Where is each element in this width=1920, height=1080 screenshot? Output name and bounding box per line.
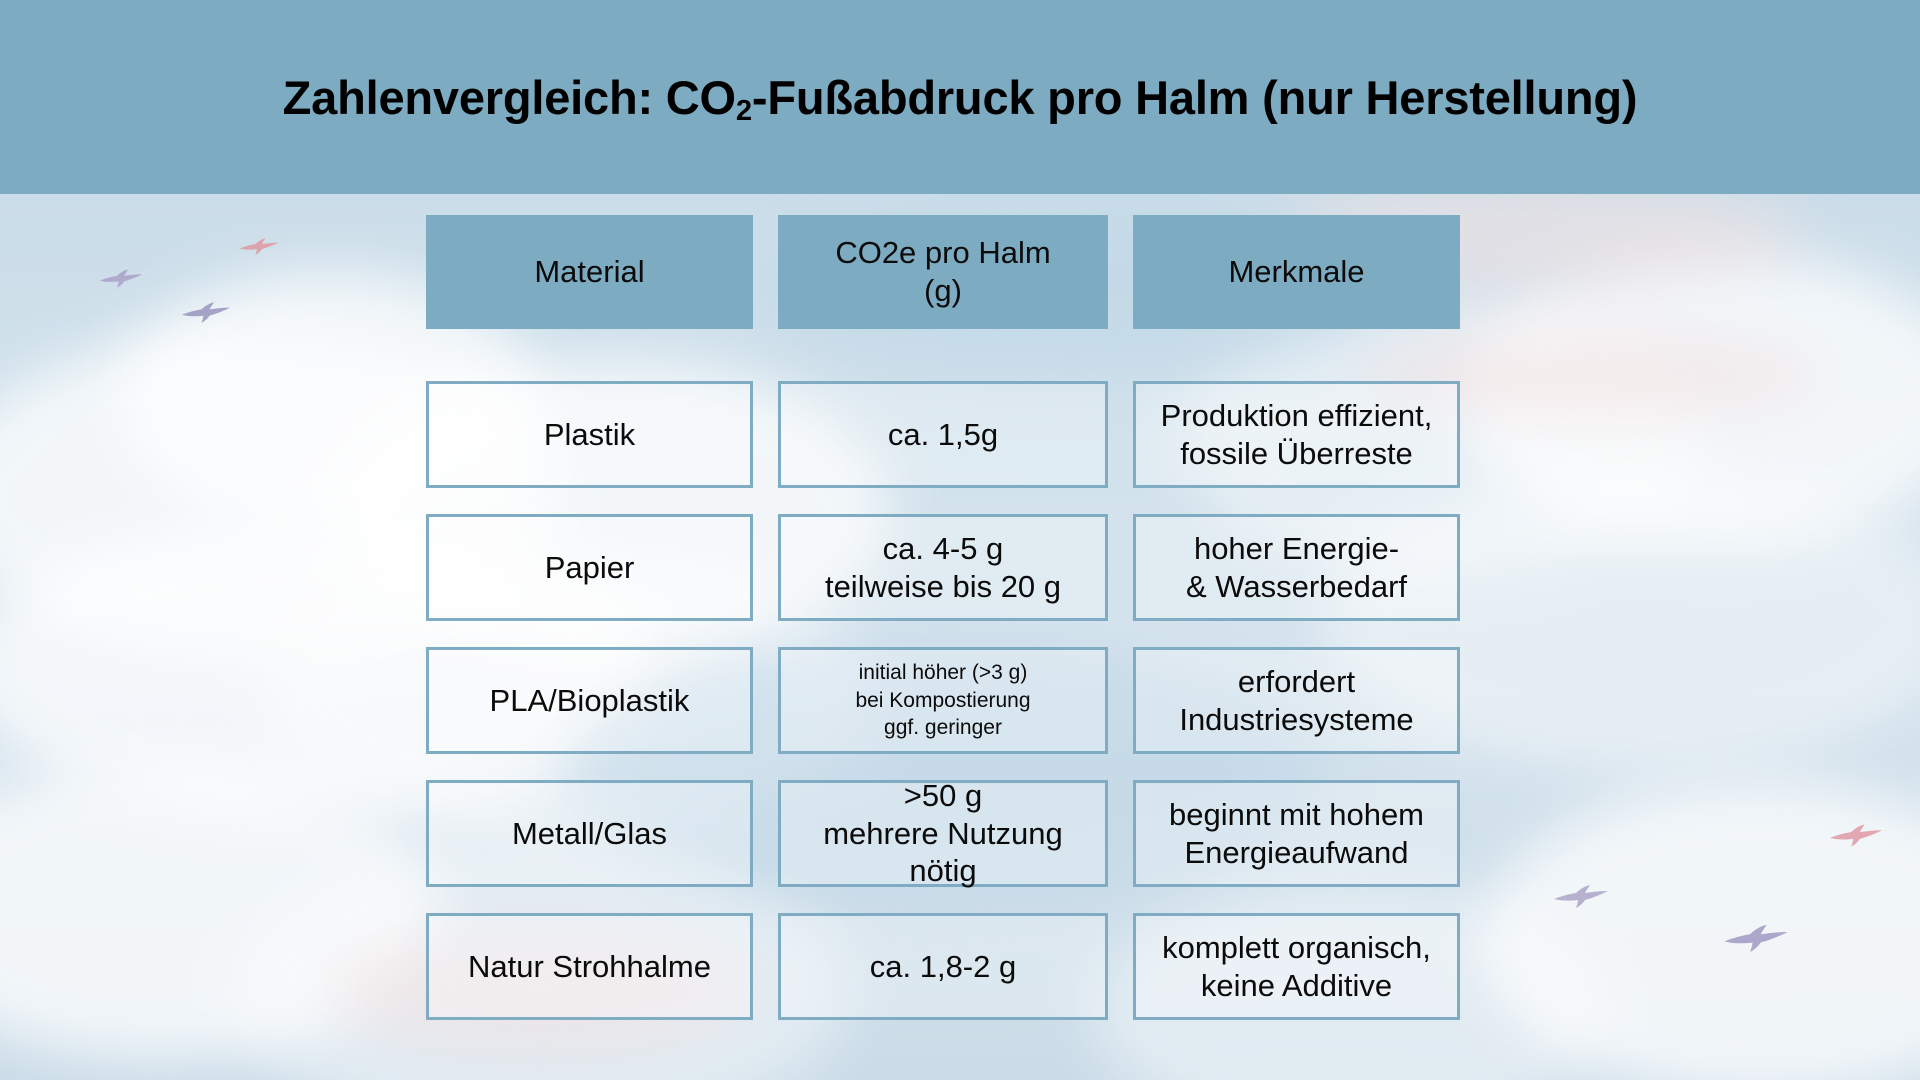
header-cell-merkmale: Merkmale [1133, 215, 1460, 329]
text-line: Industriesysteme [1179, 701, 1413, 739]
text-line: Papier [545, 549, 635, 587]
text-line: Material [534, 253, 644, 291]
bird-icon [1722, 922, 1790, 956]
table-row: Papierca. 4-5 gteilweise bis 20 ghoher E… [426, 514, 1460, 621]
text-line: teilweise bis 20 g [825, 568, 1061, 606]
text-line: Natur Strohhalme [468, 948, 711, 986]
cell-co2e: ca. 1,8-2 g [778, 913, 1108, 1020]
text-line: fossile Überreste [1161, 435, 1433, 473]
cell-merkmale: erfordertIndustriesysteme [1133, 647, 1460, 754]
bird-right-mid-violet [1552, 884, 1610, 910]
header-cell-material: Material [426, 215, 753, 329]
slide-canvas: Zahlenvergleich: CO2-Fußabdruck pro Halm… [0, 0, 1920, 1080]
cell-material: Papier [426, 514, 753, 621]
header-merkmale-label: Merkmale [1228, 253, 1364, 291]
table-header-row: Material CO2e pro Halm(g) Merkmale [426, 215, 1460, 329]
cell-co2e-text: >50 gmehrere Nutzung nötig [791, 777, 1095, 890]
text-line: (g) [835, 272, 1050, 310]
title-prefix: Zahlenvergleich: CO [283, 71, 736, 124]
header-material-label: Material [534, 253, 644, 291]
text-line: ca. 1,8-2 g [870, 948, 1016, 986]
text-line: >50 g [791, 777, 1095, 815]
cell-material: Natur Strohhalme [426, 913, 753, 1020]
cell-co2e: >50 gmehrere Nutzung nötig [778, 780, 1108, 887]
cell-merkmale-text: beginnt mit hohemEnergieaufwand [1169, 796, 1424, 872]
cell-merkmale: komplett organisch,keine Additive [1133, 913, 1460, 1020]
text-line: Merkmale [1228, 253, 1364, 291]
bird-right-low-violet [1722, 922, 1790, 956]
cell-material-text: Plastik [544, 416, 635, 454]
title-banner: Zahlenvergleich: CO2-Fußabdruck pro Halm… [0, 0, 1920, 194]
cell-material: PLA/Bioplastik [426, 647, 753, 754]
text-line: ggf. geringer [855, 714, 1030, 742]
header-cell-co2e: CO2e pro Halm(g) [778, 215, 1108, 329]
cloud-shape [1480, 780, 1920, 1080]
text-line: ca. 1,5g [888, 416, 998, 454]
bird-icon [238, 235, 280, 259]
table-body: Plastikca. 1,5gProduktion effizient,foss… [426, 381, 1460, 1020]
bird-icon [180, 300, 232, 326]
text-line: bei Kompostierung [855, 687, 1030, 715]
cell-material-text: Papier [545, 549, 635, 587]
text-line: Metall/Glas [512, 815, 667, 853]
table-row: Plastikca. 1,5gProduktion effizient,foss… [426, 381, 1460, 488]
table-row: Metall/Glas>50 gmehrere Nutzung nötigbeg… [426, 780, 1460, 887]
text-line: erfordert [1179, 663, 1413, 701]
comparison-table: Material CO2e pro Halm(g) Merkmale Plast… [426, 215, 1460, 1020]
table-row: PLA/Bioplastikinitial höher (>3 g)bei Ko… [426, 647, 1460, 754]
bird-icon [98, 268, 144, 290]
cell-merkmale-text: Produktion effizient,fossile Überreste [1161, 397, 1433, 473]
cell-material-text: Natur Strohhalme [468, 948, 711, 986]
cell-co2e: ca. 4-5 gteilweise bis 20 g [778, 514, 1108, 621]
title-subscript: 2 [736, 95, 752, 127]
text-line: initial höher (>3 g) [855, 659, 1030, 687]
text-line: hoher Energie- [1186, 530, 1407, 568]
text-line: Produktion effizient, [1161, 397, 1433, 435]
header-co2e-label: CO2e pro Halm(g) [835, 234, 1050, 310]
cell-co2e-text: initial höher (>3 g)bei Kompostierungggf… [855, 659, 1030, 742]
cell-co2e-text: ca. 1,8-2 g [870, 948, 1016, 986]
cloud-shape [0, 760, 440, 1060]
text-line: PLA/Bioplastik [490, 682, 690, 720]
cell-co2e: initial höher (>3 g)bei Kompostierungggf… [778, 647, 1108, 754]
cell-merkmale: beginnt mit hohemEnergieaufwand [1133, 780, 1460, 887]
cell-merkmale-text: komplett organisch,keine Additive [1162, 929, 1431, 1005]
text-line: Plastik [544, 416, 635, 454]
bird-icon [1828, 820, 1884, 852]
cell-merkmale-text: erfordertIndustriesysteme [1179, 663, 1413, 739]
text-line: Energieaufwand [1169, 834, 1424, 872]
cell-merkmale-text: hoher Energie-& Wasserbedarf [1186, 530, 1407, 606]
text-line: & Wasserbedarf [1186, 568, 1407, 606]
text-line: ca. 4-5 g [825, 530, 1061, 568]
bird-right-top-pink [1828, 820, 1884, 852]
text-line: CO2e pro Halm [835, 234, 1050, 272]
cell-material: Metall/Glas [426, 780, 753, 887]
bird-left-upper-violet [98, 268, 144, 290]
table-row: Natur Strohhalmeca. 1,8-2 gkomplett orga… [426, 913, 1460, 1020]
text-line: keine Additive [1162, 967, 1431, 1005]
bird-left-lower-violet [180, 300, 232, 326]
cell-material-text: Metall/Glas [512, 815, 667, 853]
bird-icon [1552, 884, 1610, 910]
bird-left-top-pink [238, 235, 280, 259]
page-title: Zahlenvergleich: CO2-Fußabdruck pro Halm… [283, 70, 1638, 125]
cell-material: Plastik [426, 381, 753, 488]
cell-co2e-text: ca. 4-5 gteilweise bis 20 g [825, 530, 1061, 606]
cell-merkmale: hoher Energie-& Wasserbedarf [1133, 514, 1460, 621]
cell-merkmale: Produktion effizient,fossile Überreste [1133, 381, 1460, 488]
cell-material-text: PLA/Bioplastik [490, 682, 690, 720]
cell-co2e-text: ca. 1,5g [888, 416, 998, 454]
text-line: komplett organisch, [1162, 929, 1431, 967]
title-suffix: -Fußabdruck pro Halm (nur Herstellung) [752, 71, 1637, 124]
cell-co2e: ca. 1,5g [778, 381, 1108, 488]
text-line: mehrere Nutzung nötig [791, 815, 1095, 891]
cloud-shape [1460, 250, 1920, 550]
text-line: beginnt mit hohem [1169, 796, 1424, 834]
